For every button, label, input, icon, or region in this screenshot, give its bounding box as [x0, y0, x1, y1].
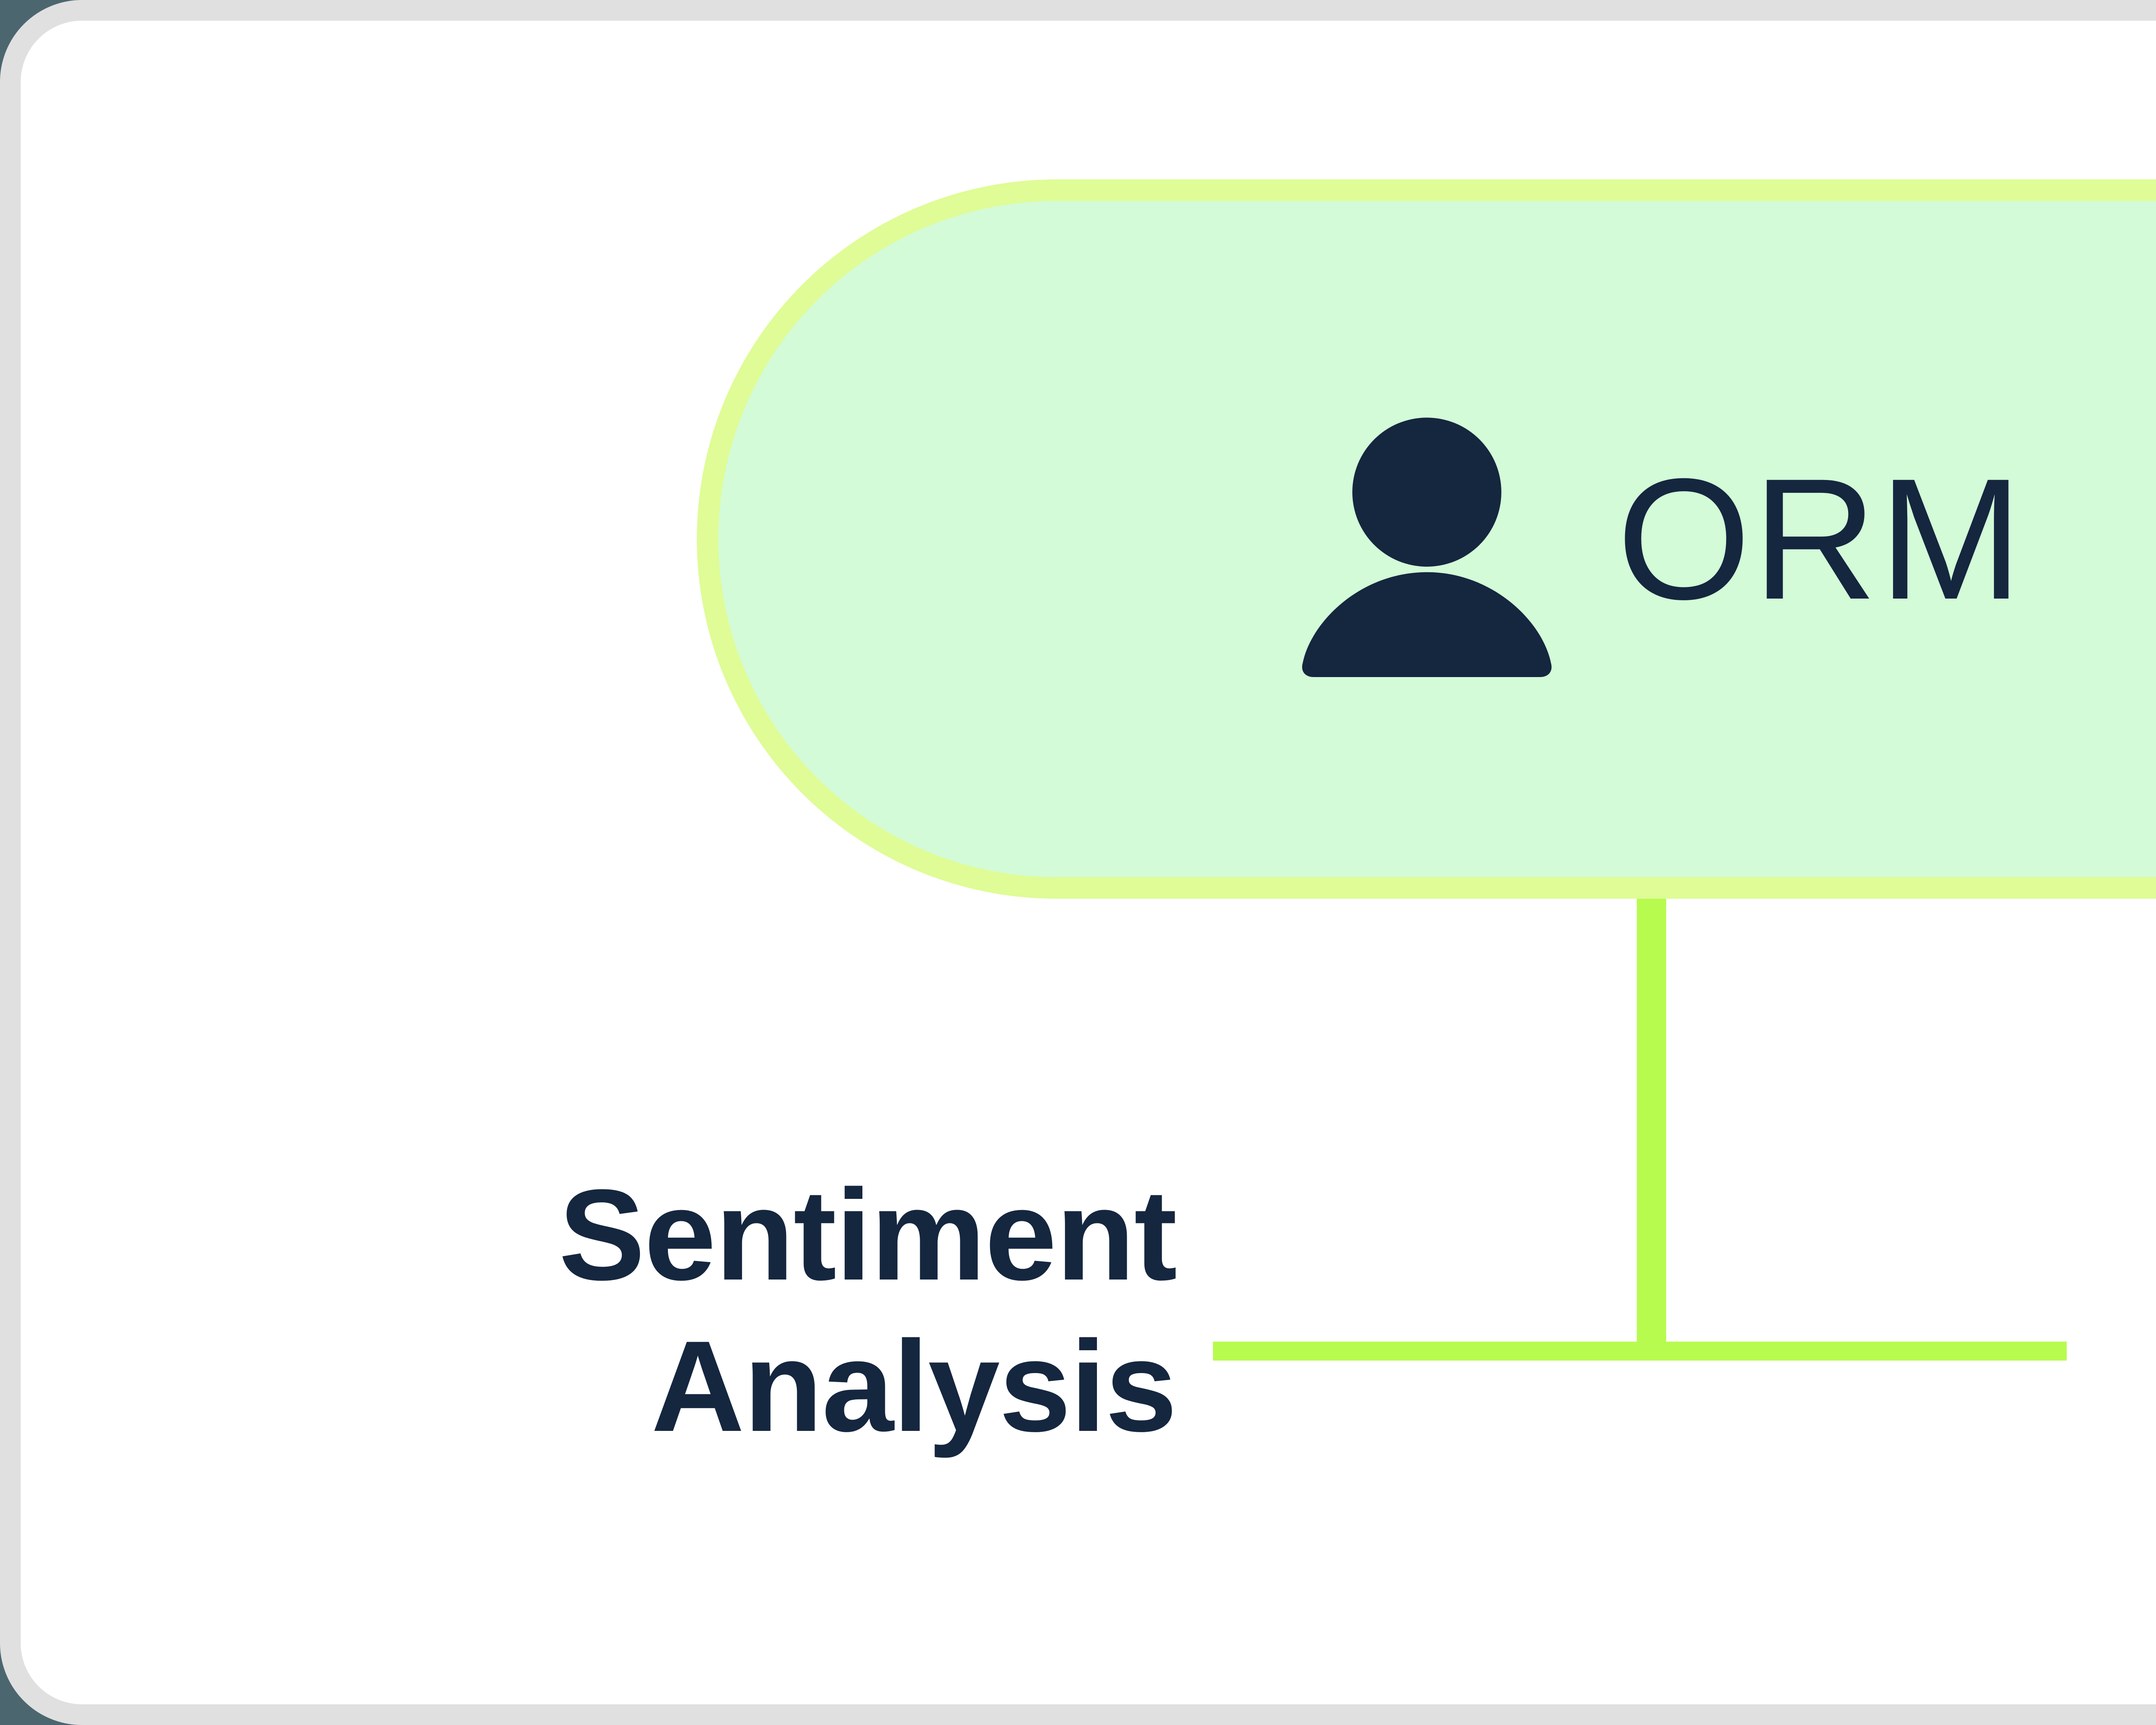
connector-vertical-stem	[1637, 899, 1666, 1344]
leaf-label-line-2: Analysis	[107, 1311, 1176, 1462]
diagram-card: ORM Sentiment Analysis Reputation Buildi…	[0, 0, 2156, 1725]
leaf-label-line-2: Building	[2125, 1311, 2156, 1462]
leaf-label-line-1: Sentiment	[107, 1159, 1176, 1311]
orm-label: ORM	[1617, 453, 2024, 625]
leaf-label-reputation-building[interactable]: Reputation Building	[2125, 1159, 2156, 1462]
connector-horizontal-bar	[1213, 1342, 2067, 1361]
diagram-stage: ORM Sentiment Analysis Reputation Buildi…	[21, 21, 2156, 1725]
person-icon	[1289, 401, 1565, 677]
leaf-label-line-1: Reputation	[2125, 1159, 2156, 1311]
orm-node[interactable]: ORM	[697, 179, 2156, 899]
leaf-label-sentiment-analysis[interactable]: Sentiment Analysis	[107, 1159, 1176, 1462]
